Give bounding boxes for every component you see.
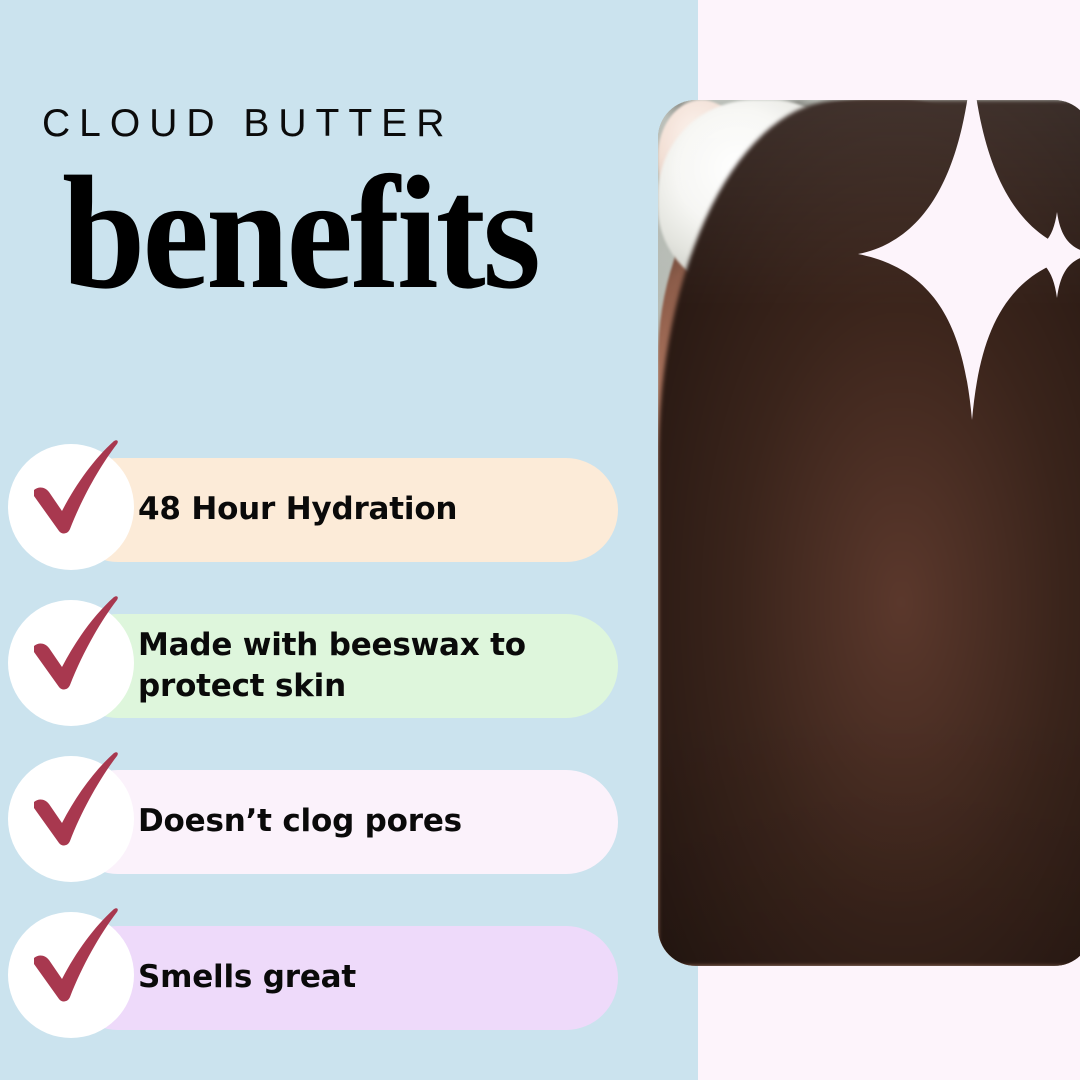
check-icon <box>18 588 138 708</box>
check-icon <box>18 900 138 1020</box>
benefit-label: Made with beeswax to protect skin <box>138 625 584 707</box>
benefit-label: Doesn’t clog pores <box>138 801 462 842</box>
check-badge-2 <box>8 756 134 882</box>
product-photo <box>658 100 1080 966</box>
photo-vignette <box>658 100 1080 966</box>
benefit-pill-3[interactable]: Smells great <box>66 926 618 1030</box>
benefit-pill-1[interactable]: Made with beeswax to protect skin <box>66 614 618 718</box>
eyebrow-text: CLOUD BUTTER <box>42 104 453 143</box>
list-item[interactable]: 48 Hour Hydration <box>0 444 698 590</box>
list-item[interactable]: Smells great <box>0 912 698 1058</box>
benefit-pill-2[interactable]: Doesn’t clog pores <box>66 770 618 874</box>
list-item[interactable]: Made with beeswax to protect skin <box>0 600 698 746</box>
check-icon-stroke <box>34 596 118 689</box>
check-badge-0 <box>8 444 134 570</box>
poster-canvas: CLOUD BUTTER benefits 48 Hour Hydration … <box>0 0 1080 1080</box>
check-icon-stroke <box>34 908 118 1001</box>
check-badge-3 <box>8 912 134 1038</box>
check-badge-1 <box>8 600 134 726</box>
benefit-label: 48 Hour Hydration <box>138 489 457 530</box>
check-icon-stroke <box>34 752 118 845</box>
page-title: benefits <box>62 152 538 314</box>
list-item[interactable]: Doesn’t clog pores <box>0 756 698 902</box>
check-icon-stroke <box>34 440 118 533</box>
benefits-list: 48 Hour Hydration Made with beeswax to p… <box>0 444 698 1068</box>
check-icon <box>18 432 138 552</box>
check-icon <box>18 744 138 864</box>
benefit-pill-0[interactable]: 48 Hour Hydration <box>66 458 618 562</box>
benefit-label: Smells great <box>138 957 356 998</box>
